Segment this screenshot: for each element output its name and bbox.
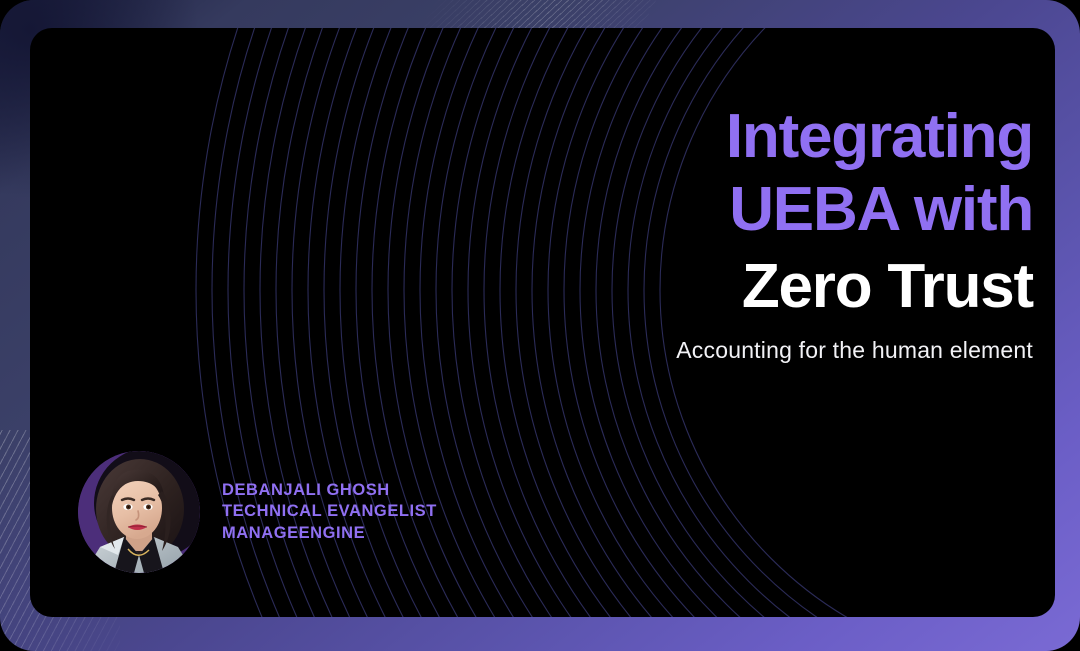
speaker-company: MANAGEENGINE [222,523,437,544]
speaker-portrait-icon [78,451,200,573]
speaker-name: DEBANJALI GHOSH [222,480,437,501]
speaker-role: TECHNICAL EVANGELIST [222,501,437,522]
speaker-text: DEBANJALI GHOSH TECHNICAL EVANGELIST MAN… [222,480,437,544]
title-line-1: Integrating [273,100,1033,173]
title-line-2: UEBA with [273,173,1033,246]
subtitle: Accounting for the human element [273,337,1033,364]
title-line-3: Zero Trust [273,250,1033,323]
speaker-block: DEBANJALI GHOSH TECHNICAL EVANGELIST MAN… [78,451,437,573]
title-block: Integrating UEBA with Zero Trust Account… [273,100,1033,364]
slide-frame: Integrating UEBA with Zero Trust Account… [0,0,1080,651]
avatar [78,451,200,573]
slide-stage: Integrating UEBA with Zero Trust Account… [30,28,1055,617]
